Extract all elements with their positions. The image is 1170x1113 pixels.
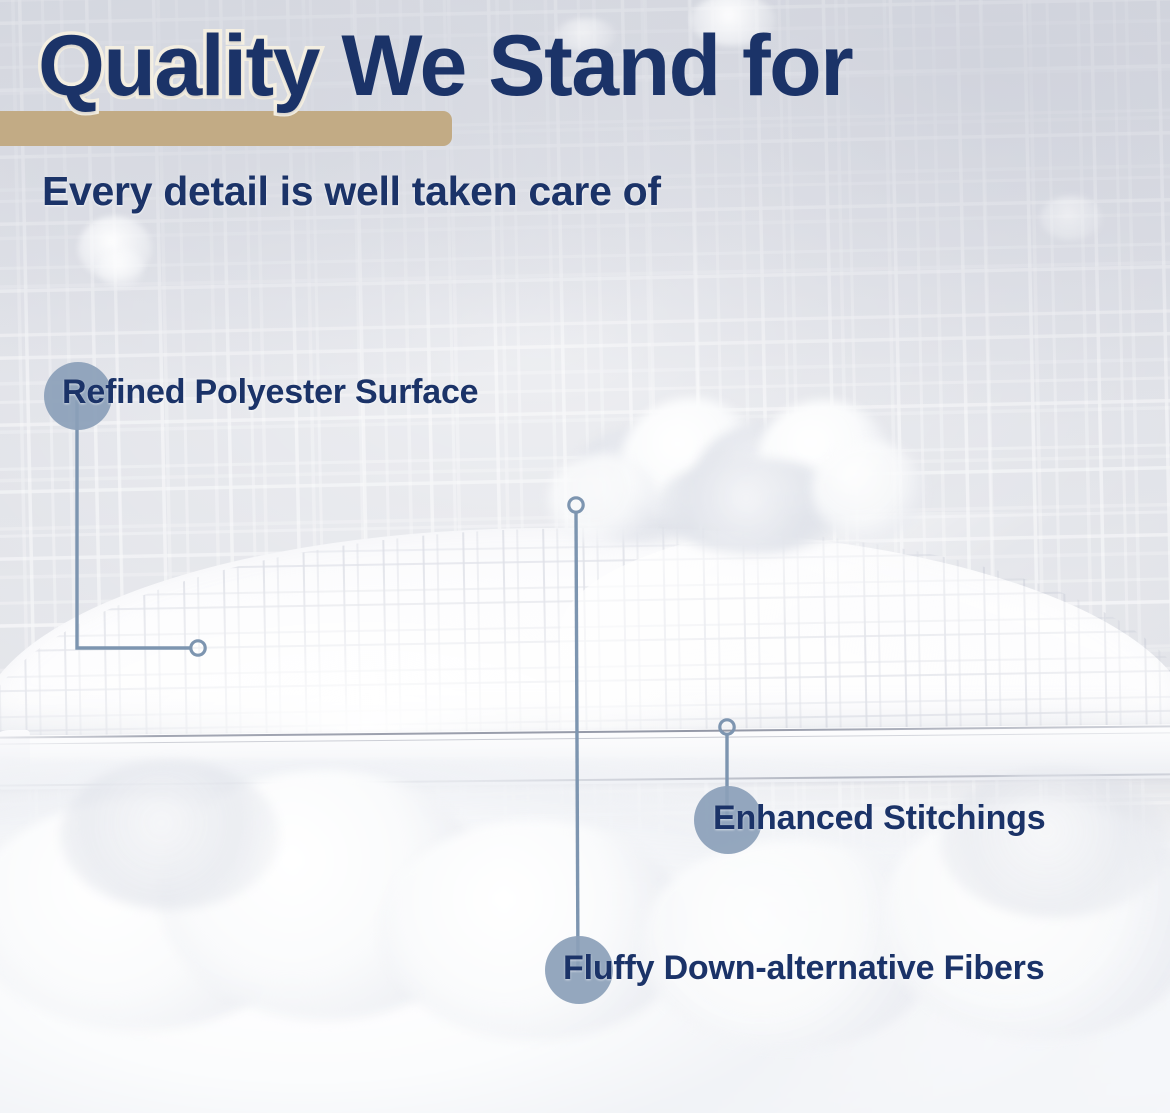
callout-label-fluffy-down-alternative-fibers[interactable]: Fluffy Down-alternative Fibers	[563, 949, 1044, 988]
callout-label-enhanced-stitchings[interactable]: Enhanced Stitchings	[713, 799, 1045, 838]
headline-highlight-bar	[0, 111, 452, 146]
fiber-cloud-puff	[758, 400, 890, 518]
fiber-fill-cloud-top	[560, 392, 910, 572]
fiber-cloud-puff	[692, 422, 852, 544]
fiber-cloud-puff	[548, 454, 658, 546]
infographic-canvas: Quality We Stand for Every detail is wel…	[0, 0, 1170, 1113]
headline-highlight-word: Quality	[38, 18, 319, 114]
fiber-cloud-puff	[812, 440, 924, 540]
fiber-cloud-puff	[656, 458, 852, 554]
page-title: Quality We Stand for	[38, 23, 852, 109]
fiber-cloud-puff	[570, 426, 720, 544]
page-subtitle: Every detail is well taken care of	[42, 168, 661, 215]
headline-rest: We Stand for	[319, 18, 852, 114]
callout-label-refined-polyester-surface[interactable]: Refined Polyester Surface	[62, 373, 478, 412]
fiber-cloud-puff	[622, 398, 762, 524]
